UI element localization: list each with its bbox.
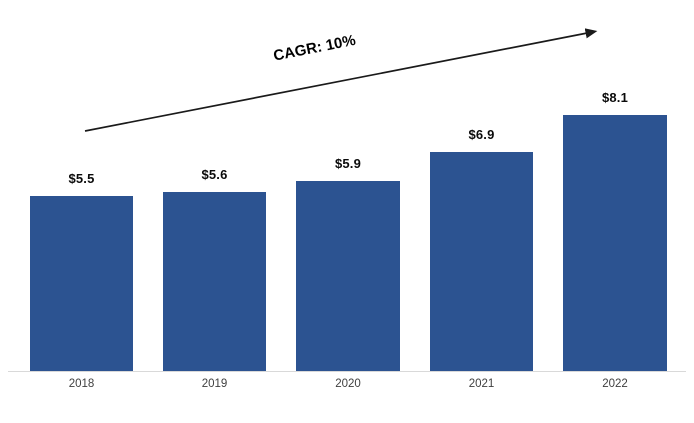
bar-value-label-2019: $5.6 [163, 167, 266, 182]
plot-area: $5.5 $5.6 $5.9 $6.9 $8.1 2018 2019 2020 … [0, 0, 694, 423]
bar-value-label-2020: $5.9 [296, 156, 400, 171]
bar-chart: $5.5 $5.6 $5.9 $6.9 $8.1 2018 2019 2020 … [0, 0, 694, 423]
bar-2021[interactable] [430, 152, 533, 372]
x-axis-label-2019: 2019 [163, 378, 266, 390]
x-axis-label-2020: 2020 [296, 378, 400, 390]
x-axis-label-2018: 2018 [30, 378, 133, 390]
x-axis-label-2021: 2021 [430, 378, 533, 390]
bar-2022[interactable] [563, 115, 667, 372]
bar-2020[interactable] [296, 181, 400, 372]
bar-value-label-2018: $5.5 [30, 171, 133, 186]
bar-value-label-2021: $6.9 [430, 127, 533, 142]
bar-2019[interactable] [163, 192, 266, 372]
bar-2018[interactable] [30, 196, 133, 372]
x-axis-label-2022: 2022 [563, 378, 667, 390]
cagr-annotation: CAGR: 10% [272, 32, 357, 65]
x-axis-baseline [8, 371, 686, 372]
bar-value-label-2022: $8.1 [563, 90, 667, 105]
